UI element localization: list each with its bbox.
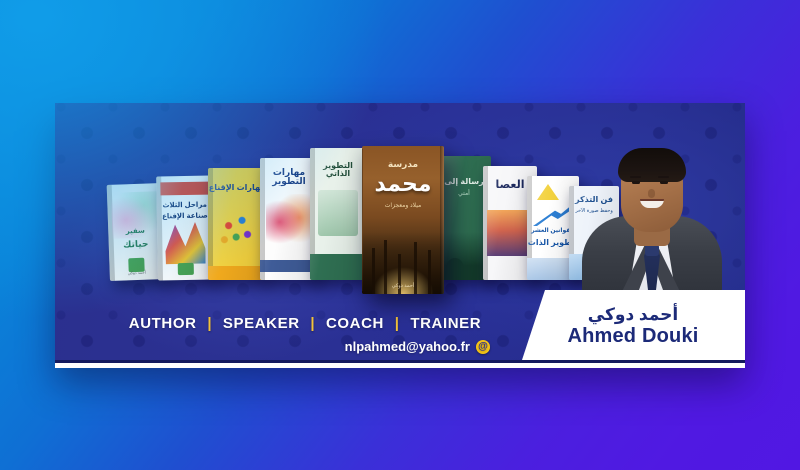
role-speaker: SPEAKER: [223, 315, 300, 332]
nose: [648, 189, 655, 198]
book-cover[interactable]: التطوير الذاتي: [310, 148, 366, 280]
role-separator: |: [310, 315, 315, 332]
at-icon: @: [476, 340, 490, 354]
contact-email[interactable]: nlpahmed@yahoo.fr @: [345, 339, 490, 354]
book-author: أحمد دوكي: [362, 283, 444, 289]
hair: [618, 148, 686, 182]
name-latin: Ahmed Douki: [567, 325, 698, 348]
book-gloss: [107, 183, 164, 281]
book-subtitle: ميلاد ومعجزات: [362, 202, 444, 209]
book-cover[interactable]: سفير حياتك أحمد دوكي: [107, 183, 164, 281]
eyebrow-right: [658, 176, 669, 179]
role-separator: |: [207, 315, 212, 332]
book-cover[interactable]: مهارات الإقناع: [208, 168, 266, 280]
role-author: AUTHOR: [129, 315, 197, 332]
book-gloss: [208, 168, 266, 280]
book-edge: [440, 146, 444, 294]
name-card: أحمد دوكي Ahmed Douki: [521, 290, 745, 363]
book-cover-featured[interactable]: مدرسة محمد ميلاد ومعجزات أحمد دوكي: [362, 146, 444, 294]
role-coach: COACH: [326, 315, 384, 332]
banner-bottom-strip: [55, 363, 745, 368]
portrait-photo: [576, 103, 726, 308]
book-gloss: [156, 176, 214, 281]
eye-left: [632, 181, 640, 184]
book-cover[interactable]: مراحل الثلاث صناعة الإقناع: [156, 176, 214, 281]
role-separator: |: [395, 315, 400, 332]
page-background: سفير حياتك أحمد دوكي مراحل الثلاث صناعة …: [0, 0, 800, 470]
role-trainer: TRAINER: [410, 315, 481, 332]
promo-banner: سفير حياتك أحمد دوكي مراحل الثلاث صناعة …: [55, 103, 745, 368]
book-title: مدرسة: [362, 160, 444, 169]
eyebrow-left: [630, 176, 641, 179]
name-arabic: أحمد دوكي: [588, 305, 678, 325]
eye-right: [660, 181, 668, 184]
book-gloss: [310, 148, 366, 280]
email-address: nlpahmed@yahoo.fr: [345, 339, 470, 354]
book-title-main: محمد: [362, 172, 444, 195]
